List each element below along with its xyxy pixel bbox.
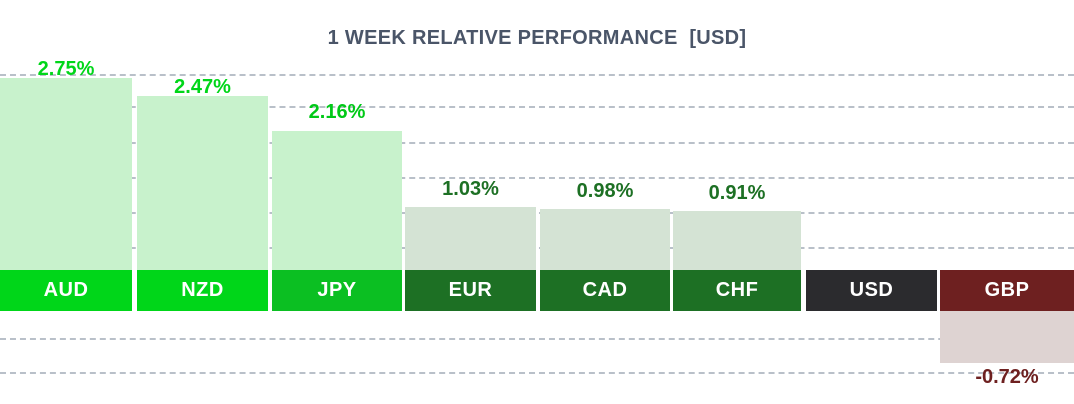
value-label-chf: 0.91% [673, 182, 801, 205]
currency-ticker-label: JPY [317, 279, 356, 302]
relative-performance-chart: 1 WEEK RELATIVE PERFORMANCE [USD] 2.75%A… [0, 0, 1074, 404]
currency-block-aud[interactable]: AUD [0, 270, 132, 311]
currency-block-jpy[interactable]: JPY [272, 270, 402, 311]
currency-block-nzd[interactable]: NZD [137, 270, 268, 311]
bar-plot-area: 2.75%AUD2.47%NZD2.16%JPY1.03%EUR0.98%CAD… [0, 0, 1074, 404]
bar-column-jpy[interactable]: 2.16%JPY [272, 0, 402, 404]
bar-fill-cad [540, 209, 670, 270]
bar-column-gbp[interactable]: -0.72%GBP [940, 0, 1074, 404]
currency-block-eur[interactable]: EUR [405, 270, 536, 311]
bar-fill-jpy [272, 131, 402, 270]
currency-ticker-label: CAD [583, 279, 628, 302]
currency-ticker-label: EUR [449, 279, 493, 302]
currency-ticker-label: AUD [44, 279, 89, 302]
bar-column-eur[interactable]: 1.03%EUR [405, 0, 536, 404]
currency-ticker-label: NZD [181, 279, 224, 302]
currency-ticker-label: GBP [985, 279, 1030, 302]
currency-block-cad[interactable]: CAD [540, 270, 670, 311]
value-label-jpy: 2.16% [272, 101, 402, 124]
bar-fill-aud [0, 78, 132, 270]
bar-column-nzd[interactable]: 2.47%NZD [137, 0, 268, 404]
bar-column-chf[interactable]: 0.91%CHF [673, 0, 801, 404]
value-label-cad: 0.98% [540, 180, 670, 203]
bar-fill-nzd [137, 96, 268, 270]
bar-fill-chf [673, 211, 801, 270]
currency-ticker-label: CHF [716, 279, 759, 302]
bar-column-usd[interactable]: USD [806, 0, 937, 404]
bar-column-aud[interactable]: 2.75%AUD [0, 0, 132, 404]
currency-block-chf[interactable]: CHF [673, 270, 801, 311]
bar-fill-gbp [940, 311, 1074, 363]
bar-fill-eur [405, 207, 536, 270]
value-label-gbp: -0.72% [940, 366, 1074, 389]
currency-ticker-label: USD [850, 279, 894, 302]
value-label-eur: 1.03% [405, 178, 536, 201]
value-label-aud: 2.75% [0, 58, 132, 81]
value-label-nzd: 2.47% [137, 76, 268, 99]
bar-column-cad[interactable]: 0.98%CAD [540, 0, 670, 404]
currency-block-gbp[interactable]: GBP [940, 270, 1074, 311]
currency-block-usd[interactable]: USD [806, 270, 937, 311]
